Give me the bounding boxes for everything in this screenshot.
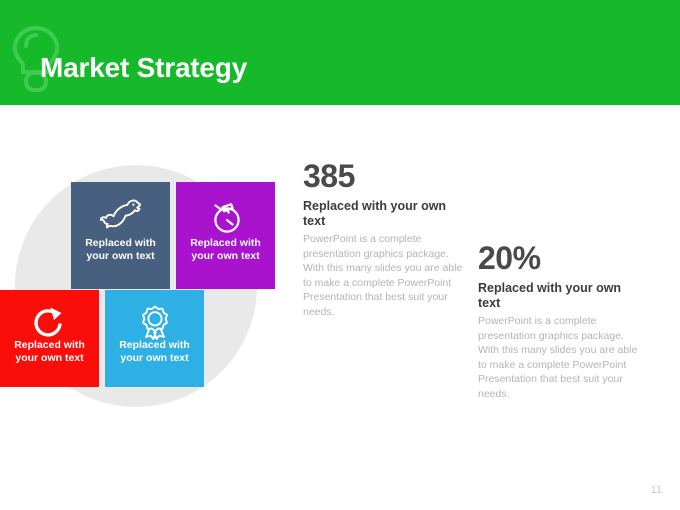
page-number: 11 (651, 484, 662, 496)
tile-refresh[interactable]: Replaced with your own text (0, 290, 99, 387)
tile-label: Replaced with your own text (71, 237, 170, 271)
refresh-icon (0, 304, 99, 340)
award-ribbon-icon (105, 304, 204, 342)
stat-body: PowerPoint is a complete presentation gr… (303, 232, 468, 320)
stopwatch-icon (176, 196, 275, 234)
stat-number: 385 (303, 158, 468, 194)
stat-block-385: 385 Replaced with your own text PowerPoi… (303, 158, 468, 320)
stat-subhead: Replaced with your own text (303, 199, 468, 229)
stat-subhead: Replaced with your own text (478, 281, 643, 311)
slide-header: Market Strategy (0, 0, 680, 105)
tile-award[interactable]: Replaced with your own text (105, 290, 204, 387)
tile-bird[interactable]: Replaced with your own text (71, 182, 170, 289)
tile-label: Replaced with your own text (0, 339, 99, 373)
tile-stopwatch[interactable]: Replaced with your own text (176, 182, 275, 289)
stat-number: 20% (478, 240, 643, 276)
page-title: Market Strategy (40, 52, 247, 84)
stat-body: PowerPoint is a complete presentation gr… (478, 314, 643, 402)
tile-label: Replaced with your own text (176, 237, 275, 271)
bird-icon (71, 196, 170, 230)
stat-block-20-percent: 20% Replaced with your own text PowerPoi… (478, 240, 643, 402)
tile-grid: Replaced with your own text Replaced wit… (0, 182, 276, 387)
tile-label: Replaced with your own text (105, 339, 204, 373)
